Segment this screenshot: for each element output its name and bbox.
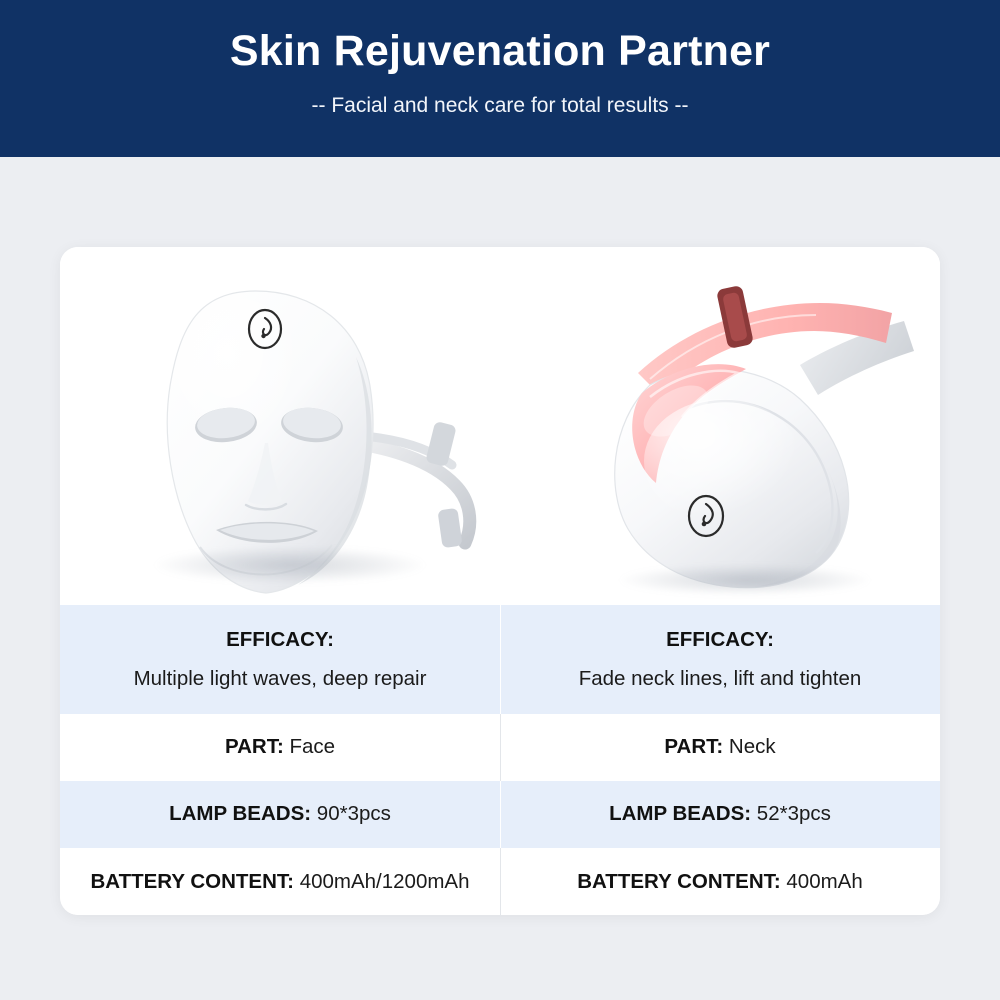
page-title: Skin Rejuvenation Partner [230,28,770,75]
comparison-card: EFFICACY: Multiple light waves, deep rep… [60,247,940,915]
spec-label: BATTERY CONTENT: [91,870,294,893]
product-photo-row [60,247,940,605]
page-subtitle: -- Facial and neck care for total result… [312,94,689,118]
spec-label: LAMP BEADS: [609,802,751,825]
product-image-led-face-mask [60,247,500,605]
spec-table: EFFICACY: Multiple light waves, deep rep… [60,605,940,915]
spec-label: PART: [664,735,723,758]
row-divider [500,714,501,781]
row-divider [500,781,501,848]
header-banner: Skin Rejuvenation Partner -- Facial and … [0,0,1000,157]
spec-value: 52*3pcs [757,802,831,825]
spec-label: BATTERY CONTENT: [577,870,780,893]
spec-label: LAMP BEADS: [169,802,311,825]
spec-value: Multiple light waves, deep repair [134,667,427,690]
spec-value: 400mAh [786,870,862,893]
spec-value: Neck [729,735,776,758]
spec-value: 90*3pcs [317,802,391,825]
spec-row: EFFICACY: Multiple light waves, deep rep… [60,605,940,714]
spec-cell-lamp-beads-left: LAMP BEADS: 90*3pcs [60,781,500,848]
spec-row: PART: Face PART: Neck [60,714,940,781]
product-infographic-page: Skin Rejuvenation Partner -- Facial and … [0,0,1000,1000]
spec-cell-part-right: PART: Neck [500,714,940,781]
product-image-led-neck-device [500,247,940,605]
spec-value: Fade neck lines, lift and tighten [579,667,862,690]
neck-device-illustration [500,247,940,605]
body-area: EFFICACY: Multiple light waves, deep rep… [0,157,1000,1000]
spec-row: BATTERY CONTENT: 400mAh/1200mAh BATTERY … [60,848,940,915]
spec-cell-efficacy-right: EFFICACY: Fade neck lines, lift and tigh… [500,605,940,714]
spec-value: 400mAh/1200mAh [300,870,470,893]
spec-label: PART: [225,735,284,758]
spec-label: EFFICACY: [226,628,334,651]
spec-cell-lamp-beads-right: LAMP BEADS: 52*3pcs [500,781,940,848]
spec-cell-battery-right: BATTERY CONTENT: 400mAh [500,848,940,915]
spec-label: EFFICACY: [666,628,774,651]
spec-cell-part-left: PART: Face [60,714,500,781]
row-divider [500,848,501,915]
spec-cell-efficacy-left: EFFICACY: Multiple light waves, deep rep… [60,605,500,714]
spec-row: LAMP BEADS: 90*3pcs LAMP BEADS: 52*3pcs [60,781,940,848]
row-divider [500,605,501,714]
spec-value: Face [289,735,335,758]
spec-cell-battery-left: BATTERY CONTENT: 400mAh/1200mAh [60,848,500,915]
